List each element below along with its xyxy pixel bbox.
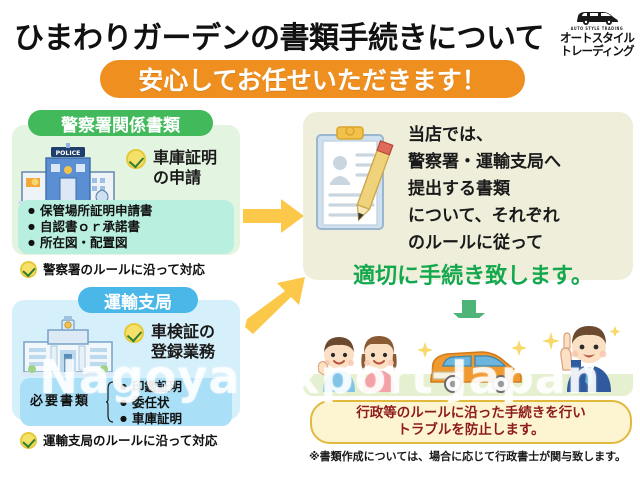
government-building-icon — [18, 316, 118, 376]
clipboard-pencil-icon — [313, 125, 399, 233]
couple-icon — [317, 324, 403, 394]
police-check-line1: 車庫証明 — [153, 148, 217, 167]
callout-line-2: トラブルを防止します。 — [397, 422, 544, 439]
check-circle-icon — [124, 323, 144, 343]
transport-card-header: 運輸支局 — [78, 287, 198, 313]
list-item: 所在図・配置図 — [28, 235, 153, 251]
car-icon — [572, 6, 622, 26]
company-logo: AUTO STYLE TRADING オートスタイル トレーディング — [558, 6, 636, 60]
police-card-header: 警察署関係書類 — [28, 110, 213, 136]
check-circle-icon — [20, 261, 37, 278]
logo-line-2: トレーディング — [560, 45, 635, 58]
center-line-1: 当店では、 — [408, 122, 630, 149]
warning-callout: 行政等のルールに沿った手続きを行い トラブルを防止します。 — [310, 400, 632, 444]
required-docs-label: 必要書類 — [30, 390, 90, 409]
transport-check-row: 車検証の 登録業務 — [124, 322, 215, 362]
transport-note-text: 運輸支局のルールに沿って対応 — [43, 430, 217, 449]
transport-check-line1: 車検証の — [151, 322, 215, 341]
transport-check-text: 車検証の 登録業務 — [151, 322, 215, 362]
list-item: 印鑑証明 — [120, 379, 182, 395]
required-docs-list: 印鑑証明 委任状 車庫証明 — [120, 379, 182, 427]
police-note-row: 警察署のルールに沿って対応 — [20, 259, 205, 278]
list-item: 車庫証明 — [120, 411, 182, 427]
check-circle-icon — [126, 149, 146, 169]
brace-icon — [105, 381, 115, 423]
footnote-text: ※書類作成については、場合に応じて行政書士が関与致します。 — [300, 448, 635, 464]
police-check-line2: の申請 — [153, 168, 217, 188]
list-item: 委任状 — [120, 395, 182, 411]
assurance-banner-text: 安心してお任せいただきます！ — [138, 61, 487, 97]
police-station-icon: POLICE — [18, 142, 118, 204]
police-check-text: 車庫証明 の申請 — [153, 148, 217, 188]
police-note-text: 警察署のルールに沿って対応 — [43, 259, 205, 278]
center-line-2: 警察署・運輸支局へ — [408, 149, 630, 176]
orange-car-icon — [415, 336, 533, 394]
police-sign-text: POLICE — [56, 150, 81, 157]
infographic-canvas: ひまわりガーデンの書類手続きについて AUTO STYLE TRADING オー… — [0, 0, 640, 480]
center-line-4: について、それぞれ — [408, 203, 630, 230]
list-item: 自認書ｏｒ承諾書 — [28, 219, 153, 235]
police-check-row: 車庫証明 の申請 — [126, 148, 217, 188]
center-panel-text: 当店では、 警察署・運輸支局へ 提出する書類 について、それぞれ のルールに従っ… — [408, 122, 630, 257]
assurance-banner: 安心してお任せいただきます！ — [100, 60, 525, 98]
list-item: 保管場所証明申請書 — [28, 203, 153, 219]
illustration-strip — [303, 318, 633, 396]
salesman-pointing-icon — [541, 320, 627, 394]
center-highlight-text: 適切に手続き致します。 — [313, 258, 633, 290]
callout-line-1: 行政等のルールに沿った手続きを行い — [356, 405, 586, 422]
right-arrow-icon — [243, 198, 305, 234]
center-line-5: のルールに従って — [408, 230, 630, 257]
page-title: ひまわりガーデンの書類手続きについて — [14, 18, 559, 60]
transport-check-line2: 登録業務 — [151, 342, 215, 362]
police-bullet-list: 保管場所証明申請書 自認書ｏｒ承諾書 所在図・配置図 — [28, 203, 153, 251]
transport-note-row: 運輸支局のルールに沿って対応 — [20, 430, 217, 449]
center-line-3: 提出する書類 — [408, 176, 630, 203]
check-circle-icon — [20, 432, 37, 449]
